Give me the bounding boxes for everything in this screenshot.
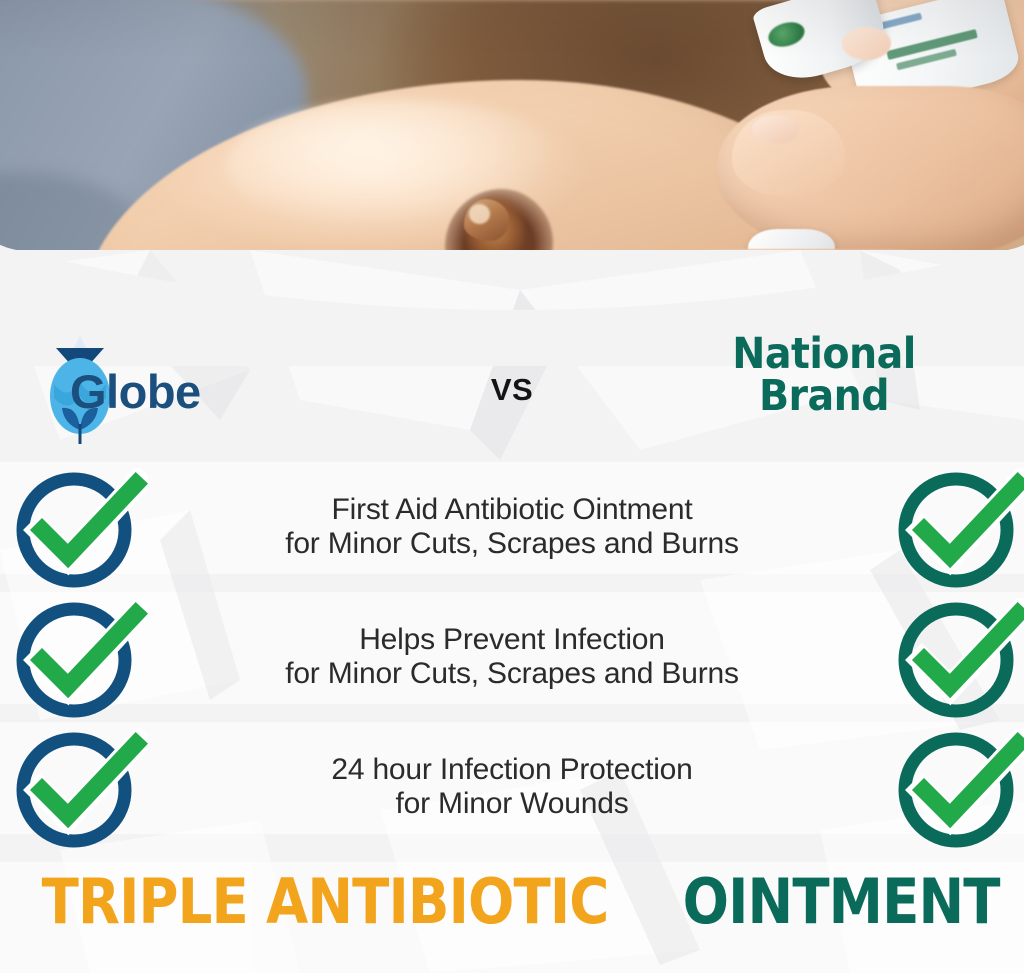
check-circle-icon-left (0, 592, 150, 722)
product-title: TRIPLE ANTIBIOTIC OINTMENT (0, 866, 1024, 936)
feature-line1: 24 hour Infection Protection (156, 753, 868, 787)
comparison-infographic: Globe VS National Brand First Aid Antibi… (0, 0, 1024, 973)
product-title-part1: TRIPLE ANTIBIOTIC (41, 865, 608, 938)
feature-line2: for Minor Cuts, Scrapes and Burns (156, 657, 868, 691)
comparison-row: Helps Prevent Infection for Minor Cuts, … (0, 592, 1024, 722)
check-circle-icon-right (874, 462, 1024, 592)
feature-text: First Aid Antibiotic Ointment for Minor … (150, 493, 874, 561)
feature-line1: First Aid Antibiotic Ointment (156, 493, 868, 527)
check-circle-icon-left (0, 722, 150, 852)
feature-line1: Helps Prevent Infection (156, 623, 868, 657)
comparison-row: First Aid Antibiotic Ointment for Minor … (0, 462, 1024, 592)
national-brand-label: National Brand (686, 334, 962, 417)
feature-line2: for Minor Wounds (156, 787, 868, 821)
feature-text: Helps Prevent Infection for Minor Cuts, … (150, 623, 874, 691)
globe-brand-name: Globe (70, 364, 201, 419)
comparison-row: 24 hour Infection Protection for Minor W… (0, 722, 1024, 852)
check-circle-icon-right (874, 722, 1024, 852)
product-title-part2: OINTMENT (683, 865, 1000, 938)
national-brand-line1: National (686, 334, 962, 376)
national-brand-line2: Brand (686, 376, 962, 418)
check-circle-icon-left (0, 462, 150, 592)
check-circle-icon-right (874, 592, 1024, 722)
brand-comparison-header: Globe VS National Brand (0, 330, 1024, 450)
feature-line2: for Minor Cuts, Scrapes and Burns (156, 527, 868, 561)
feature-text: 24 hour Infection Protection for Minor W… (150, 753, 874, 821)
comparison-rows: First Aid Antibiotic Ointment for Minor … (0, 462, 1024, 852)
